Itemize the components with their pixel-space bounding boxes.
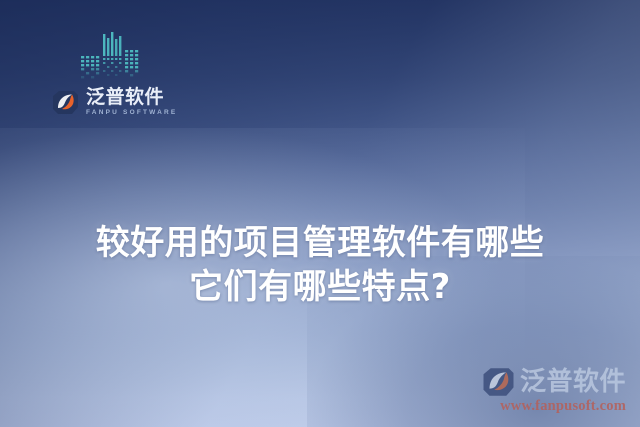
page-title: 较好用的项目管理软件有哪些 它们有哪些特点? — [0, 221, 640, 309]
brand-logo: 泛普软件 FANPU SOFTWARE — [52, 88, 177, 117]
brand-name-en: FANPU SOFTWARE — [86, 110, 177, 117]
fanpu-logo-mark-icon — [482, 367, 515, 397]
brand-watermark: 泛普软件 www.fanpusoft.com — [490, 367, 626, 415]
watermark-url: www.fanpusoft.com — [490, 398, 626, 415]
watermark-logo: 泛普软件 — [490, 367, 626, 397]
brand-logo-text: 泛普软件 FANPU SOFTWARE — [86, 88, 177, 117]
promo-banner: 泛普软件 FANPU SOFTWARE 较好用的项目管理软件有哪些 它们有哪些特… — [0, 0, 640, 427]
fanpu-logo-mark-icon — [52, 90, 79, 115]
brand-name-cn: 泛普软件 — [86, 88, 177, 107]
page-title-line-2: 它们有哪些特点? — [0, 265, 640, 309]
page-title-line-1: 较好用的项目管理软件有哪些 — [0, 221, 640, 265]
pixel-cityscape-icon — [78, 28, 144, 86]
watermark-brand-name: 泛普软件 — [520, 369, 626, 395]
